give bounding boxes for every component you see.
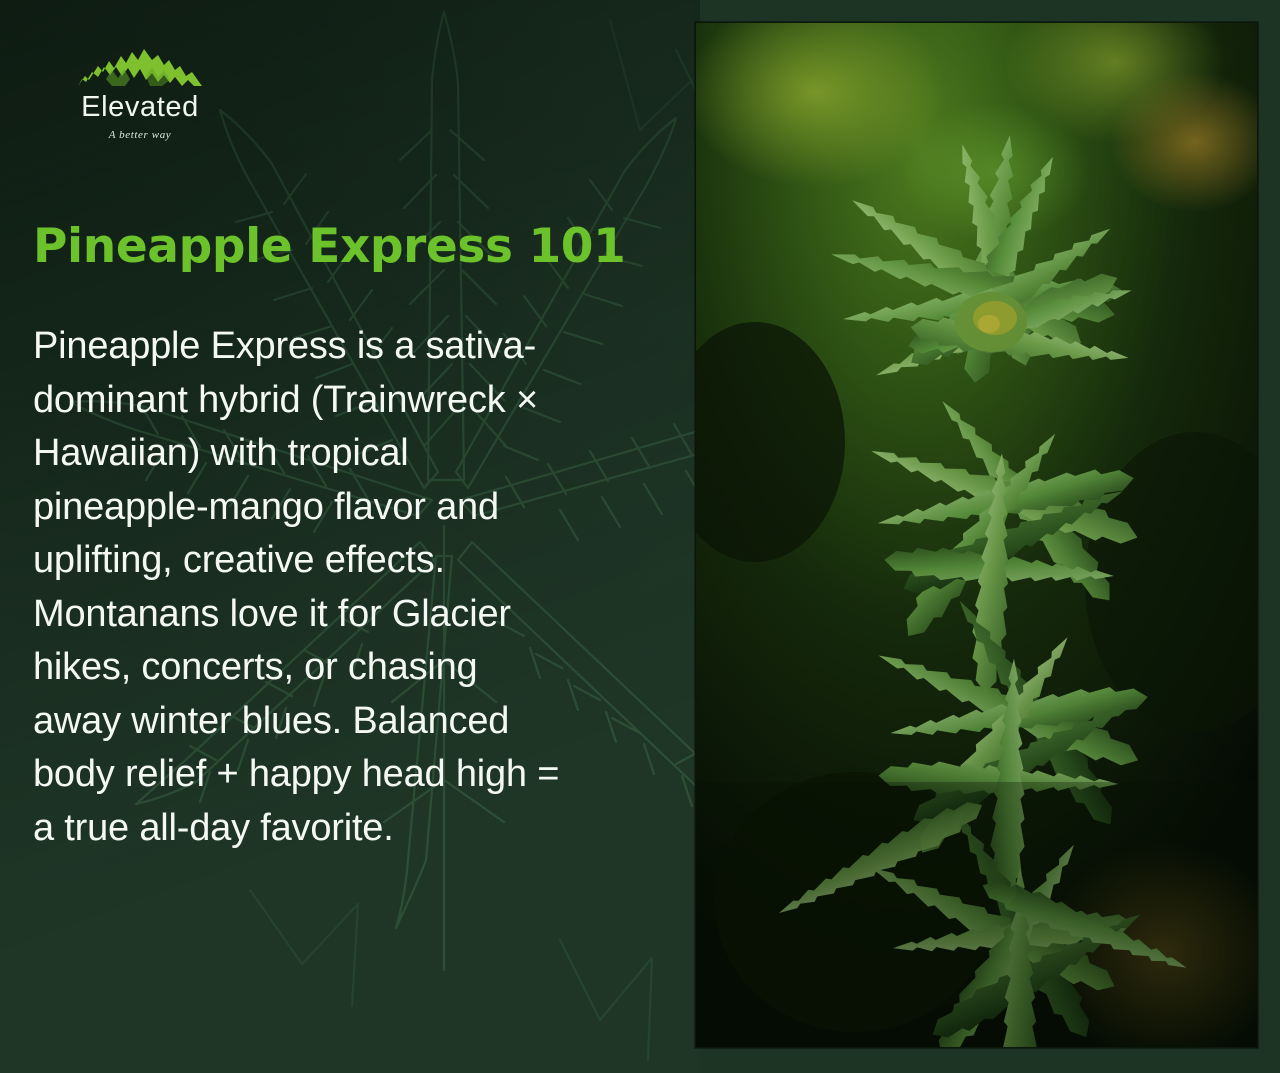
brand-logo[interactable]: Elevated A better way	[70, 46, 210, 141]
cannabis-plant-photo	[695, 22, 1258, 1048]
body-paragraph: Pineapple Express is a sativa-dominant h…	[33, 320, 573, 855]
left-content-panel: Elevated A better way Pineapple Express …	[0, 0, 700, 1073]
mountain-range-icon	[76, 46, 204, 90]
page-title: Pineapple Express 101	[33, 222, 673, 272]
poster-canvas: Elevated A better way Pineapple Express …	[0, 0, 1280, 1073]
brand-tagline: A better way	[70, 129, 210, 141]
brand-name: Elevated	[70, 93, 210, 122]
